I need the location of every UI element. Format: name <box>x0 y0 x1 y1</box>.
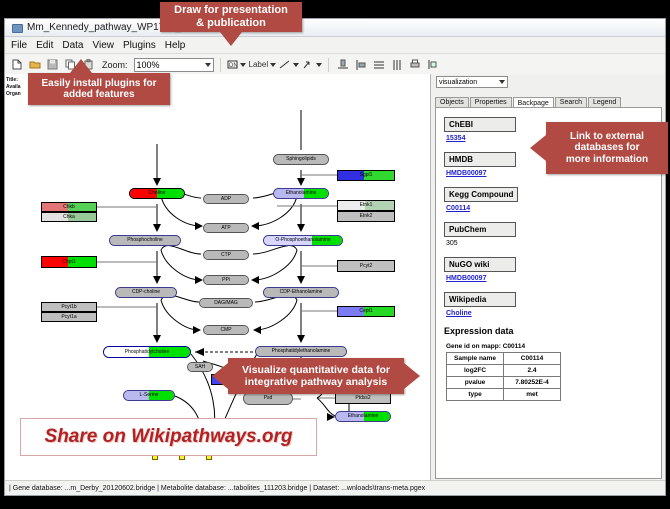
align-left-icon[interactable] <box>353 57 368 72</box>
table-row: log2FC2.4 <box>447 365 561 377</box>
zoom-label: Zoom: <box>102 60 128 70</box>
node-label: PPi <box>222 278 230 283</box>
node-label: L-Serine <box>140 393 159 398</box>
tab-objects[interactable]: Objects <box>435 97 469 107</box>
metabolite-node-adp[interactable]: ADP <box>203 194 249 204</box>
node-label: Etnk1 <box>360 203 373 208</box>
expression-key: Sample name <box>447 353 504 365</box>
gene-node-sgpl1[interactable]: Sgpl1 <box>337 170 395 181</box>
table-row: pvalue7.80252E-4 <box>447 377 561 389</box>
node-label: Phosphatidylcholine <box>125 350 169 355</box>
menu-bar: File Edit Data View Plugins Help <box>5 37 665 54</box>
node-label: CDP-choline <box>132 290 160 295</box>
gene-node-pcyt2[interactable]: Pcyt2 <box>337 260 395 272</box>
callout-draw-text: Draw for presentation& publication <box>174 4 288 29</box>
tab-label: Properties <box>475 99 507 106</box>
metabolite-node-ethanolamine-top[interactable]: Ethanolamine <box>273 188 329 199</box>
chevron-down-icon <box>293 63 299 67</box>
callout-visualize-arrow-right-icon <box>404 363 420 389</box>
callout-plugins-text: Easily install plugins foradded features <box>41 78 156 101</box>
expression-data-title: Expression data <box>444 326 653 336</box>
save-icon[interactable] <box>45 57 60 72</box>
tab-properties[interactable]: Properties <box>470 97 512 107</box>
tab-label: Legend <box>593 99 616 106</box>
metabolite-node-phosphatidylcholine[interactable]: Phosphatidylcholine <box>103 346 191 358</box>
zoom-value: 100% <box>137 60 160 70</box>
menu-item-view[interactable]: View <box>92 40 114 51</box>
tab-search[interactable]: Search <box>555 97 587 107</box>
metabolite-node-phosphocholine[interactable]: Phosphocholine <box>109 235 181 246</box>
node-label: ADP <box>221 197 231 202</box>
callout-visualize-arrow-left-icon <box>212 363 228 389</box>
node-label: Chpt1 <box>62 260 75 265</box>
callout-external: Link to externaldatabases formore inform… <box>546 122 668 174</box>
print-icon[interactable] <box>407 57 422 72</box>
tab-label: Backpage <box>518 100 549 107</box>
node-label: Psd <box>264 396 273 401</box>
metabolite-node-o-phosphoethanolamine[interactable]: O-Phosphoethanolamine <box>263 235 343 246</box>
metabolite-node-phosphatidylethanol[interactable]: Phosphatidylethanolamine <box>255 346 347 357</box>
node-label: Ptdss2 <box>355 396 370 401</box>
node-label: ATP <box>221 226 230 231</box>
callout-visualize: Visualize quantitative data forintegrati… <box>228 358 404 394</box>
title-bar: Mm_Kennedy_pathway_WP1771_45176.gpml <box>5 19 665 37</box>
new-file-icon[interactable] <box>9 57 24 72</box>
expression-value: 7.80252E-4 <box>504 377 561 389</box>
metabolite-node-cmp[interactable]: CMP <box>203 325 249 335</box>
datanode-tool[interactable]: DN <box>227 59 246 70</box>
tab-label: Objects <box>440 99 464 106</box>
node-label: CDP-Ethanolamine <box>280 290 323 295</box>
metabolite-node-ctp[interactable]: CTP <box>203 250 249 260</box>
gene-node-pcyt1b[interactable]: Pcyt1b <box>41 302 97 312</box>
svg-text:DN: DN <box>229 63 238 69</box>
distribute-vertical-icon[interactable] <box>371 57 386 72</box>
open-folder-icon[interactable] <box>27 57 42 72</box>
group-icon[interactable] <box>425 57 440 72</box>
metabolite-node-atp[interactable]: ATP <box>203 223 249 233</box>
side-panel-tabs: ObjectsPropertiesBackpageSearchLegend <box>435 94 662 108</box>
node-label: Pcyt1b <box>61 305 76 310</box>
chevron-down-icon <box>499 80 505 84</box>
backpage-header-pubchem: PubChem <box>444 222 516 237</box>
gene-node-cept1[interactable]: Cept1 <box>337 306 395 317</box>
toolbar-separator <box>328 58 329 72</box>
metabolite-node-cdp-ethanolamine[interactable]: CDP-Ethanolamine <box>263 287 339 298</box>
zoom-combo[interactable]: 100% <box>134 58 214 72</box>
app-icon <box>11 22 22 33</box>
gene-node-chkb[interactable]: Chkb <box>41 202 97 212</box>
status-bar: | Gene database: ...m_Derby_20120602.bri… <box>5 480 665 495</box>
node-label: Pcyt1a <box>61 315 76 320</box>
callout-external-text: Link to externaldatabases formore inform… <box>566 131 648 166</box>
chevron-down-icon <box>316 63 322 67</box>
metabolite-node-ppi[interactable]: PPi <box>203 275 249 285</box>
gene-node-etnk2[interactable]: Etnk2 <box>337 211 395 222</box>
menu-item-data[interactable]: Data <box>62 40 83 51</box>
align-top-icon[interactable] <box>335 57 350 72</box>
label-tool[interactable]: Label <box>249 60 277 69</box>
share-banner-text: Share on Wikipathways.org <box>45 426 293 448</box>
node-label: Chka <box>63 215 75 220</box>
menu-item-help[interactable]: Help <box>165 40 186 51</box>
backpage-value-nugo-wiki[interactable]: HMDB00097 <box>446 275 653 282</box>
visualization-value: visualization <box>439 79 477 86</box>
callout-draw-arrow-icon <box>220 32 242 46</box>
chevron-down-icon <box>270 63 276 67</box>
node-label: Cept1 <box>359 309 372 314</box>
backpage-value-wikipedia[interactable]: Choline <box>446 310 653 317</box>
node-label: Ethanolamine <box>286 191 317 196</box>
node-label: Etnk2 <box>360 214 373 219</box>
backpage-header-hmdb: HMDB <box>444 152 516 167</box>
toolbar-separator <box>220 58 221 72</box>
gene-node-chka[interactable]: Chka <box>41 212 97 222</box>
backpage-value-kegg-compound[interactable]: C00114 <box>446 205 653 212</box>
metabolite-node-sphingolipids[interactable]: Sphingolipids <box>273 154 329 165</box>
visualization-combo[interactable]: visualization <box>436 76 508 88</box>
expression-key: pvalue <box>447 377 504 389</box>
expression-key: type <box>447 389 504 401</box>
gene-id-line: Gene id on mapp: C00114 <box>446 343 653 350</box>
node-label: Sgpl1 <box>360 173 373 178</box>
share-banner: Share on Wikipathways.org <box>20 418 317 456</box>
label-tool-text: Label <box>249 60 269 69</box>
line-tool[interactable] <box>279 59 299 70</box>
gene-node-etnk1[interactable]: Etnk1 <box>337 200 395 211</box>
menu-item-plugins[interactable]: Plugins <box>123 40 156 51</box>
expression-value: met <box>504 389 561 401</box>
metabolite-node-cdp-choline[interactable]: CDP-choline <box>115 287 177 298</box>
tab-label: Search <box>560 99 582 106</box>
backpage-header-kegg-compound: Kegg Compound <box>444 187 518 202</box>
distribute-horizontal-icon[interactable] <box>389 57 404 72</box>
table-row: typemet <box>447 389 561 401</box>
backpage-header-nugo-wiki: NuGO wiki <box>444 257 516 272</box>
tab-legend[interactable]: Legend <box>588 97 621 107</box>
node-label: CTP <box>221 253 231 258</box>
table-row: Sample nameC00114 <box>447 353 561 365</box>
node-label: Pcyt2 <box>360 264 373 269</box>
expression-value: C00114 <box>504 353 561 365</box>
menu-item-file[interactable]: File <box>11 40 27 51</box>
callout-visualize-text: Visualize quantitative data forintegrati… <box>242 364 390 388</box>
node-label: Phosphocholine <box>127 238 163 243</box>
callout-draw: Draw for presentation& publication <box>160 2 302 32</box>
gene-node-pcyt1a[interactable]: Pcyt1a <box>41 312 97 322</box>
node-label: Phosphatidylethanolamine <box>272 349 331 354</box>
metabolite-node-l-serine-left[interactable]: L-Serine <box>123 390 175 401</box>
status-text: | Gene database: ...m_Derby_20120602.bri… <box>5 485 425 492</box>
menu-item-edit[interactable]: Edit <box>36 40 53 51</box>
backpage-header-wikipedia: Wikipedia <box>444 292 516 307</box>
backpage-value-pubchem: 305 <box>446 240 653 247</box>
node-label: CMP <box>220 328 231 333</box>
node-label: SAH <box>195 365 205 370</box>
node-label: Sphingolipids <box>286 157 316 162</box>
metabolite-node-dagmag[interactable]: DAG/MAG <box>199 298 253 308</box>
node-label: Ethanolamine <box>348 414 379 419</box>
callout-plugins-arrow-icon <box>70 59 92 73</box>
metabolite-node-sah[interactable]: SAH <box>187 362 213 372</box>
expression-value: 2.4 <box>504 365 561 377</box>
backpage-header-chebi: ChEBI <box>444 117 516 132</box>
chevron-down-icon <box>240 63 246 67</box>
callout-external-arrow-icon <box>530 135 546 161</box>
node-label: DAG/MAG <box>214 301 238 306</box>
node-label: O-Phosphoethanolamine <box>275 238 330 243</box>
metabolite-node-choline-top[interactable]: Choline <box>129 188 185 199</box>
node-label: Choline <box>149 191 166 196</box>
callout-plugins: Easily install plugins foradded features <box>28 73 170 105</box>
gene-node-chpt1[interactable]: Chpt1 <box>41 256 97 268</box>
chevron-down-icon <box>205 63 211 67</box>
node-label: Chkb <box>63 205 75 210</box>
expression-key: log2FC <box>447 365 504 377</box>
screenshot-root: Mm_Kennedy_pathway_WP1771_45176.gpml Fil… <box>0 0 670 509</box>
expression-table: Sample nameC00114log2FC2.4pvalue7.80252E… <box>446 352 561 401</box>
receptor-tool[interactable] <box>302 59 322 70</box>
metabolite-node-ethanolamine-bottom[interactable]: Ethanolamine <box>335 411 391 422</box>
